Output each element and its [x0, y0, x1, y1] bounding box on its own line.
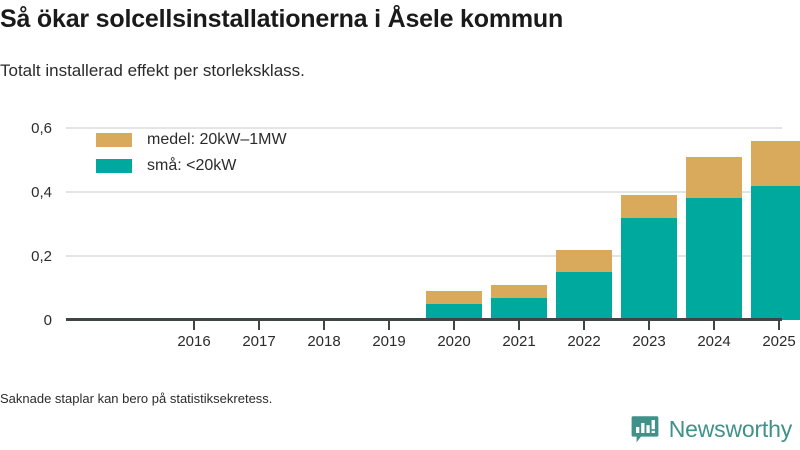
y-axis-tick-label: 0,4: [0, 185, 52, 200]
bar-chart: 00,20,40,6 20162017201820192020202120222…: [0, 100, 800, 365]
y-axis-tick-label: 0,2: [0, 249, 52, 264]
x-axis-tick-label: 2023: [616, 333, 682, 351]
x-axis-line: [66, 318, 782, 321]
x-axis-tick-mark: [258, 321, 260, 330]
bar-chart-speech-bubble-icon: [630, 414, 660, 444]
x-axis-tick-mark: [193, 321, 195, 330]
bar-stack[interactable]: [751, 141, 800, 320]
x-axis-tick-label: 2022: [551, 333, 617, 351]
bar-segment-sma[interactable]: [491, 298, 547, 320]
bar-segment-sma[interactable]: [751, 186, 800, 320]
footnote: Saknade staplar kan bero på statistiksek…: [0, 391, 272, 407]
legend-item-sma[interactable]: små: <20kW: [96, 154, 287, 177]
x-axis-tick-label: 2020: [421, 333, 487, 351]
x-axis-tick-label: 2021: [486, 333, 552, 351]
bar-segment-sma[interactable]: [556, 272, 612, 320]
bar-stack[interactable]: [426, 291, 482, 320]
bar-stack[interactable]: [686, 157, 742, 320]
x-axis-tick-mark: [518, 321, 520, 330]
x-axis-tick-mark: [323, 321, 325, 330]
x-axis-tick-mark: [713, 321, 715, 330]
x-axis-tick-label: 2017: [226, 333, 292, 351]
chart-legend: medel: 20kW–1MW små: <20kW: [96, 128, 287, 180]
bar-segment-medel[interactable]: [621, 195, 677, 217]
x-axis-tick-mark: [453, 321, 455, 330]
bar-segment-medel[interactable]: [751, 141, 800, 186]
legend-label-sma: små: <20kW: [147, 157, 236, 175]
chart-page: Så ökar solcellsinstallationerna i Åsele…: [0, 0, 800, 450]
page-subtitle: Totalt installerad effekt per storlekskl…: [0, 60, 790, 82]
bar-segment-medel[interactable]: [686, 157, 742, 199]
x-axis-tick-label: 2019: [356, 333, 422, 351]
legend-swatch-sma: [96, 159, 132, 173]
legend-label-medel: medel: 20kW–1MW: [147, 131, 287, 149]
bar-segment-medel[interactable]: [556, 250, 612, 272]
newsworthy-wordmark: Newsworthy: [669, 417, 792, 442]
x-axis-tick-label: 2025: [746, 333, 800, 351]
bar-segment-medel[interactable]: [491, 285, 547, 298]
bar-segment-medel[interactable]: [426, 291, 482, 304]
newsworthy-logo[interactable]: Newsworthy: [630, 414, 792, 444]
page-title: Så ökar solcellsinstallationerna i Åsele…: [0, 4, 790, 34]
bar-segment-sma[interactable]: [686, 198, 742, 320]
bar-stack[interactable]: [556, 250, 612, 320]
x-axis-tick-mark: [583, 321, 585, 330]
x-axis-tick-mark: [778, 321, 780, 330]
y-axis-tick-label: 0,6: [0, 121, 52, 136]
legend-swatch-medel: [96, 133, 132, 147]
bar-stack[interactable]: [621, 195, 677, 320]
x-axis-tick-label: 2024: [681, 333, 747, 351]
x-axis-tick-mark: [388, 321, 390, 330]
gridline-0-4: [66, 191, 782, 193]
x-axis-tick-mark: [648, 321, 650, 330]
y-axis-tick-label: 0: [0, 313, 52, 328]
legend-item-medel[interactable]: medel: 20kW–1MW: [96, 128, 287, 151]
bar-segment-sma[interactable]: [621, 218, 677, 320]
x-axis-tick-label: 2016: [161, 333, 227, 351]
x-axis-tick-label: 2018: [291, 333, 357, 351]
bar-stack[interactable]: [491, 285, 547, 320]
